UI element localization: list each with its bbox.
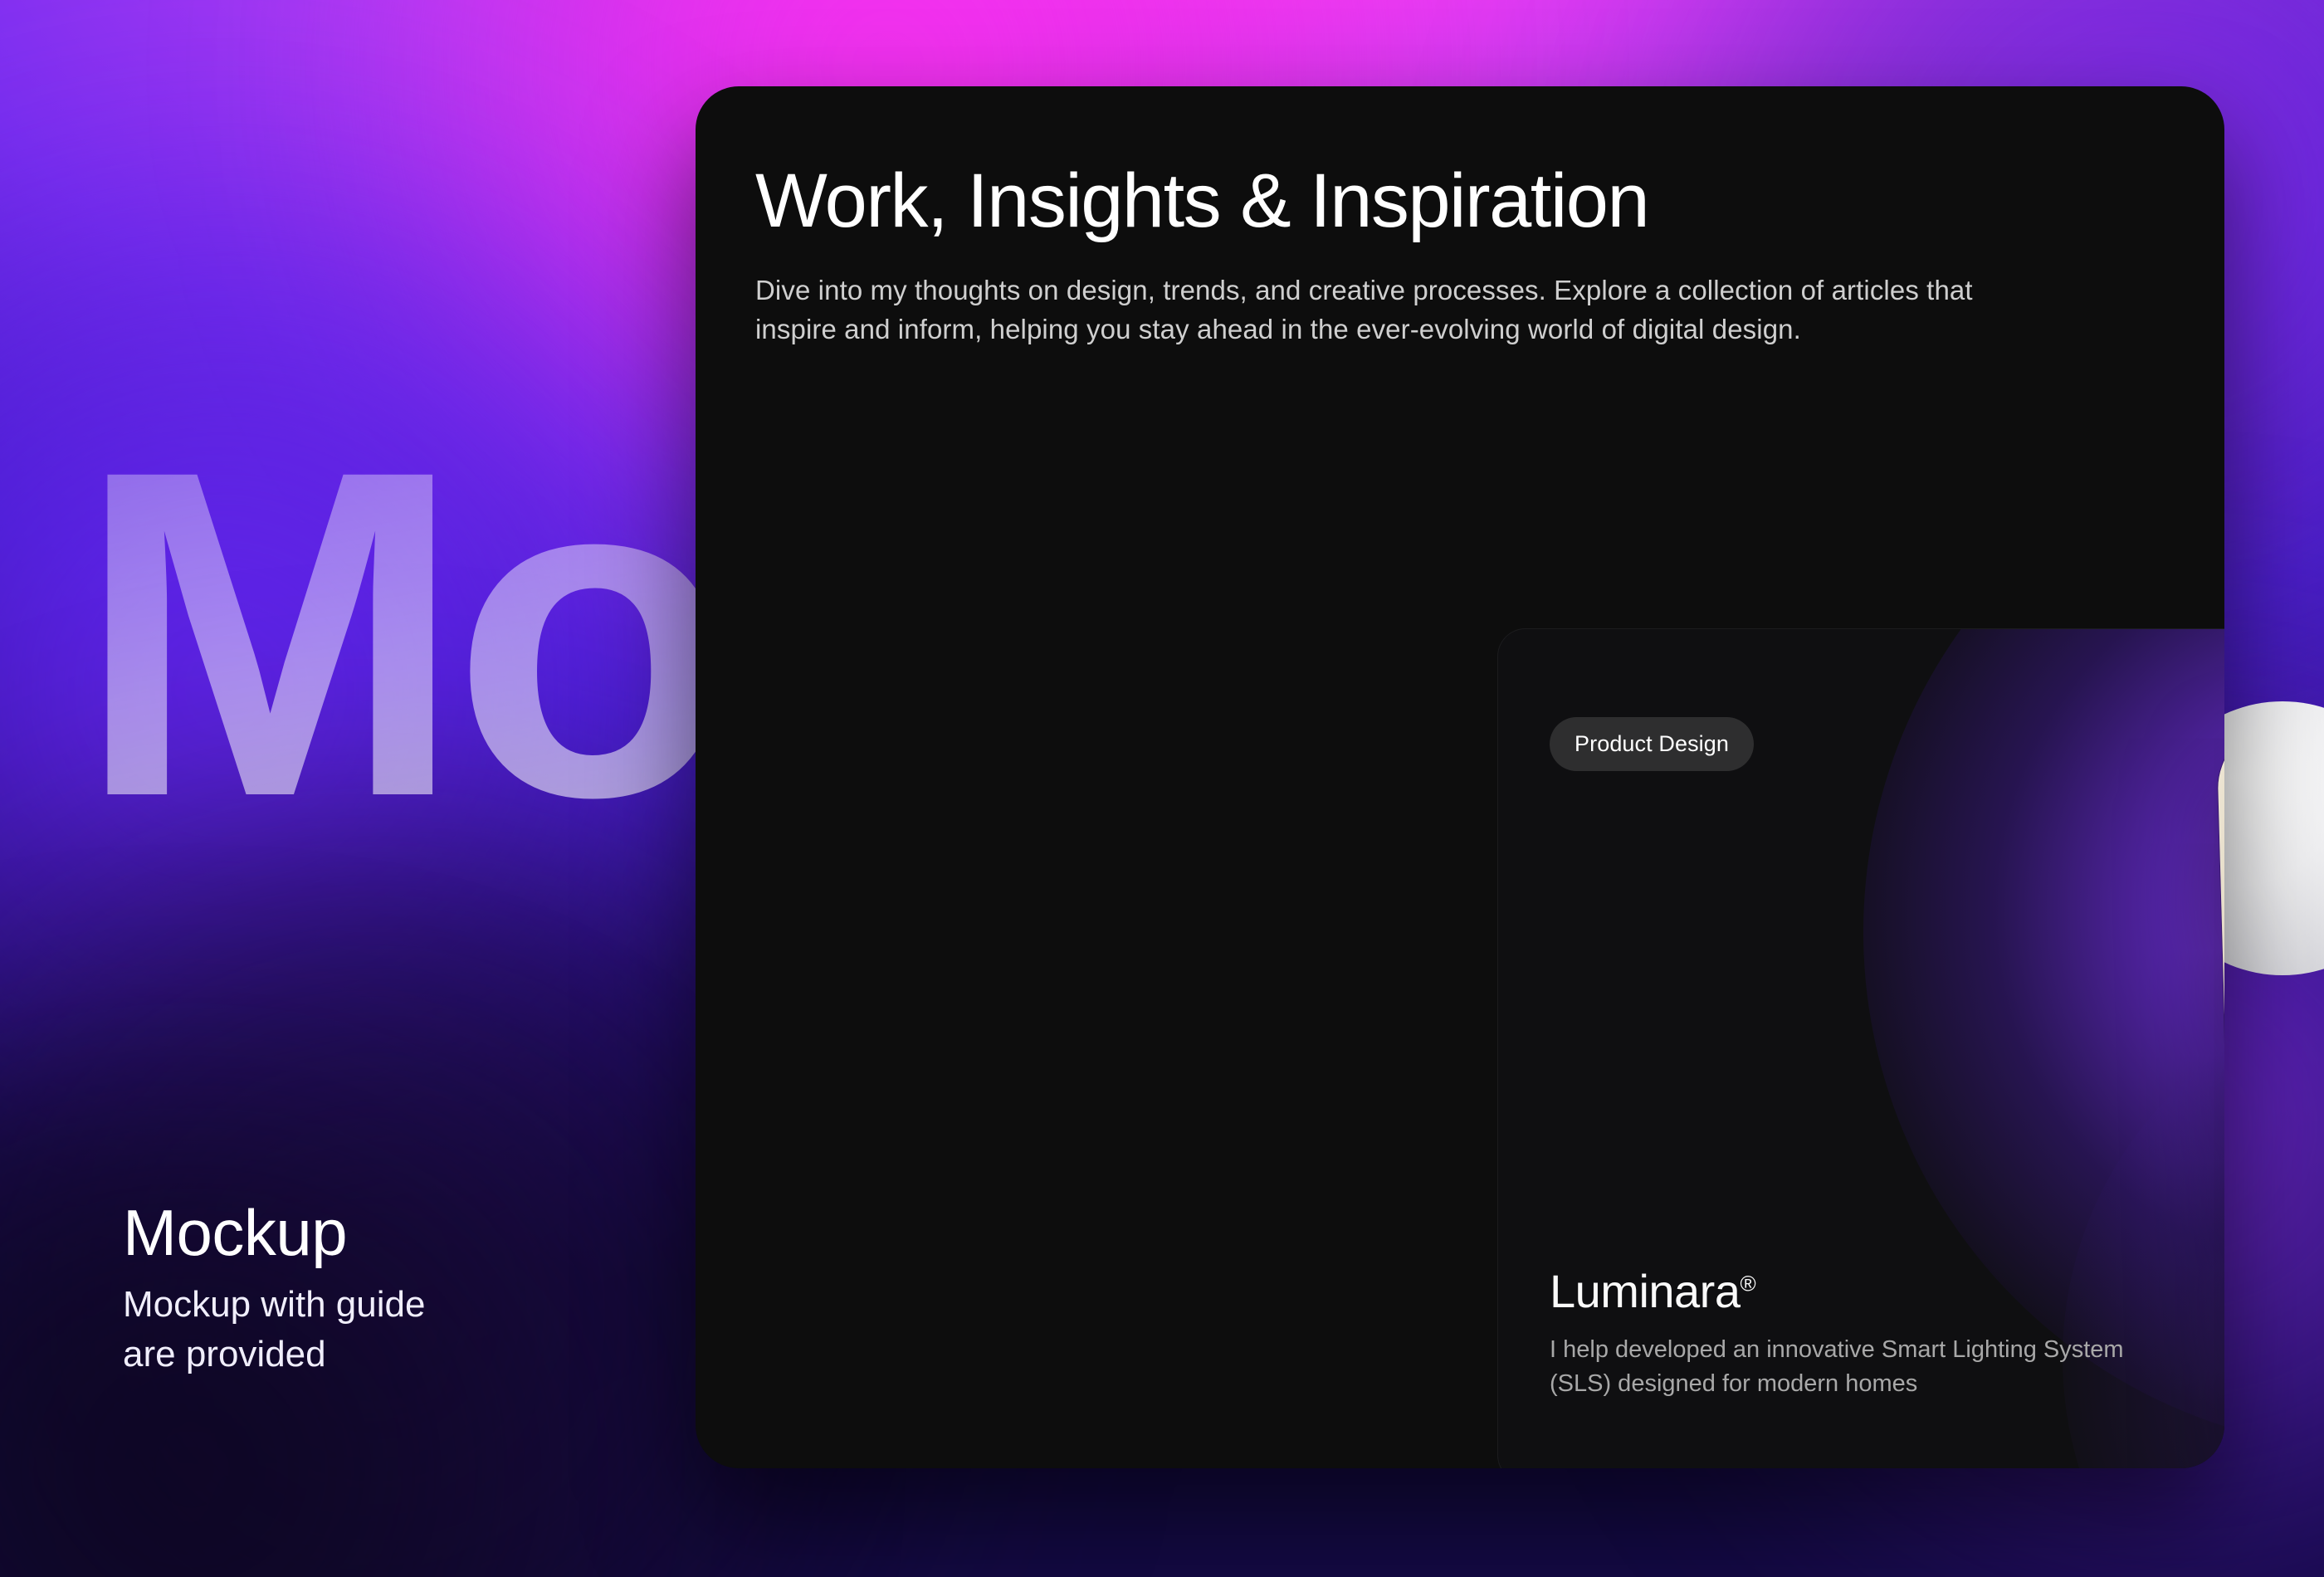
caption-title: Mockup [123, 1198, 425, 1267]
project-title: Luminara® [1550, 1268, 2180, 1315]
watermark-wordmark: Mo [76, 452, 725, 815]
category-badge[interactable]: Product Design [1550, 717, 1754, 771]
caption-line-2: are provided [123, 1330, 425, 1379]
page-subtitle: Dive into my thoughts on design, trends,… [755, 271, 2000, 350]
dark-panel: Work, Insights & Inspiration Dive into m… [696, 86, 2224, 1468]
project-card[interactable]: Product Design [1497, 628, 2224, 1468]
project-info: Luminara® I help developed an innovative… [1550, 1268, 2180, 1401]
caption-line-1: Mockup with guide [123, 1281, 425, 1329]
trademark-symbol: ® [1740, 1271, 1755, 1296]
caption-block: Mockup Mockup with guide are provided [123, 1198, 425, 1379]
project-title-text: Luminara [1550, 1265, 1740, 1317]
project-description: I help developed an innovative Smart Lig… [1550, 1333, 2180, 1401]
mockup-canvas: Mo Work, Insights & Inspiration Dive int… [0, 0, 2324, 1577]
page-title: Work, Insights & Inspiration [755, 161, 2163, 242]
